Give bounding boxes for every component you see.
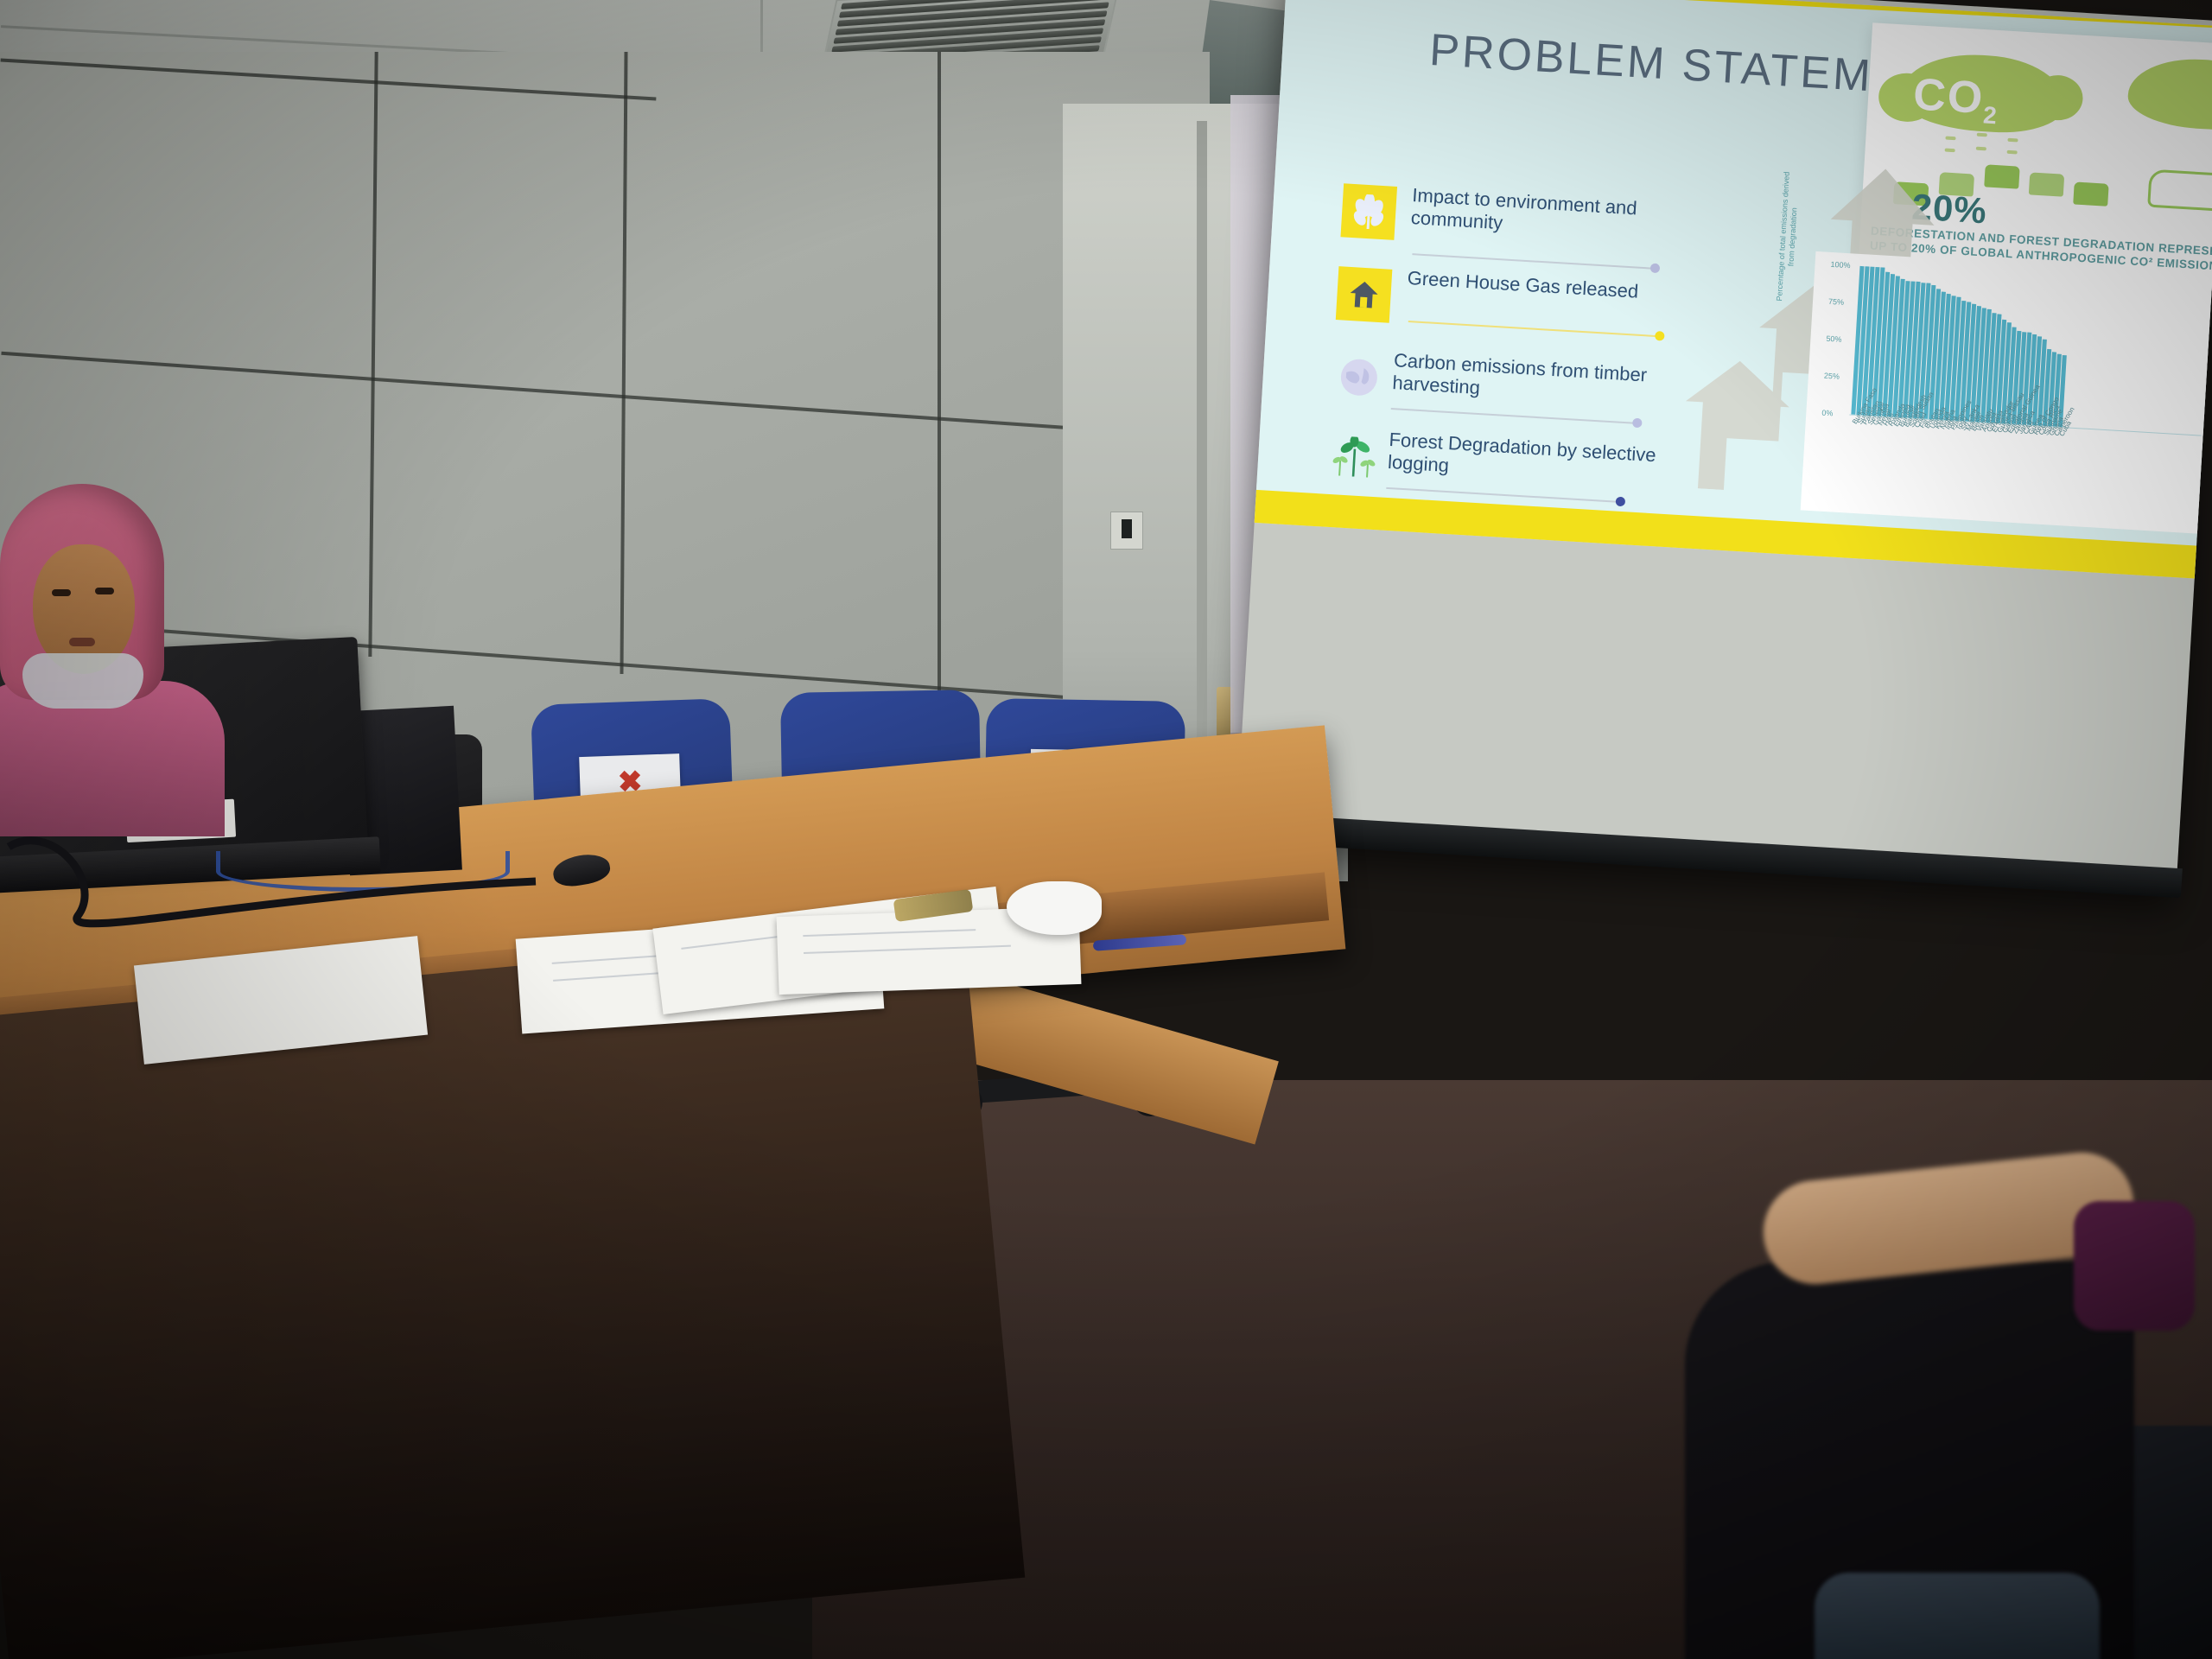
- bullet-end-dot: [1616, 497, 1626, 507]
- audience-person-foreground: [1633, 1166, 2212, 1659]
- projection-screen: PROBLEM STATEMENT CO2: [1232, 0, 2212, 955]
- wall-seam: [368, 52, 378, 657]
- bullet-connector-line: [1408, 321, 1659, 337]
- bullet-end-dot: [1655, 331, 1665, 341]
- eye: [52, 589, 71, 596]
- mouth: [69, 638, 95, 646]
- foreground-sleeve: [2074, 1201, 2195, 1331]
- rain-drop-icon: [2007, 150, 2018, 155]
- tree-stump-icon: [2073, 181, 2108, 206]
- slide-content: PROBLEM STATEMENT CO2: [1255, 0, 2212, 579]
- car-icon: [2147, 169, 2212, 213]
- bullet-connector-line: [1391, 408, 1637, 424]
- chart-y-tick-label: 0%: [1821, 409, 1834, 418]
- bullet-end-dot: [1632, 418, 1643, 429]
- rain-drop-icon: [1977, 133, 1987, 137]
- bullet-end-dot: [1650, 264, 1661, 274]
- light-switch-plate[interactable]: [1110, 512, 1143, 550]
- eye: [95, 588, 114, 594]
- co2-label-sub: 2: [1982, 101, 1999, 129]
- foreground-legs: [1815, 1573, 2100, 1659]
- chart-y-tick-label: 50%: [1826, 334, 1842, 344]
- paper-text-line: [803, 929, 976, 937]
- chart-y-tick-label: 100%: [1830, 260, 1851, 270]
- wall-seam: [938, 52, 941, 709]
- rain-drop-icon: [1976, 147, 1986, 151]
- wall-seam: [620, 52, 627, 674]
- co2-cloud-icon-secondary: [2126, 55, 2212, 133]
- bullet-label: Impact to environment and community: [1410, 184, 1698, 245]
- conference-room-scene: PROBLEM STATEMENT CO2: [0, 0, 2212, 1659]
- seedling-icon: [1326, 429, 1383, 486]
- presenter-person: [0, 484, 190, 855]
- face-mask: [22, 653, 143, 709]
- tissue: [1007, 881, 1102, 935]
- wall-seam: [1, 352, 1070, 429]
- co2-label-text: CO: [1912, 69, 1986, 124]
- globe-icon: [1331, 349, 1388, 406]
- rain-drop-icon: [2007, 138, 2018, 143]
- tree-stump-icon: [2029, 172, 2064, 196]
- tree-icon: [1340, 183, 1397, 240]
- chart-y-tick-label: 25%: [1824, 372, 1840, 381]
- paper-text-line: [804, 945, 1011, 954]
- tree-stump-icon: [1984, 164, 2019, 188]
- wall-seam: [1, 58, 657, 100]
- degradation-bar-chart: Percentage of total emissions derived fr…: [1801, 251, 2212, 534]
- chart-y-tick-label: 75%: [1828, 297, 1845, 307]
- house-icon: [1336, 266, 1393, 323]
- bullet-connector-line: [1386, 487, 1619, 503]
- door-jamb: [1197, 121, 1207, 778]
- bullet-connector-line: [1412, 253, 1654, 270]
- chart-x-tick-labels: Burkina FasoSudanPakistanSenegalGambiaNe…: [1846, 418, 2204, 529]
- bullet-list: Impact to environment and community Gree…: [1325, 180, 1775, 530]
